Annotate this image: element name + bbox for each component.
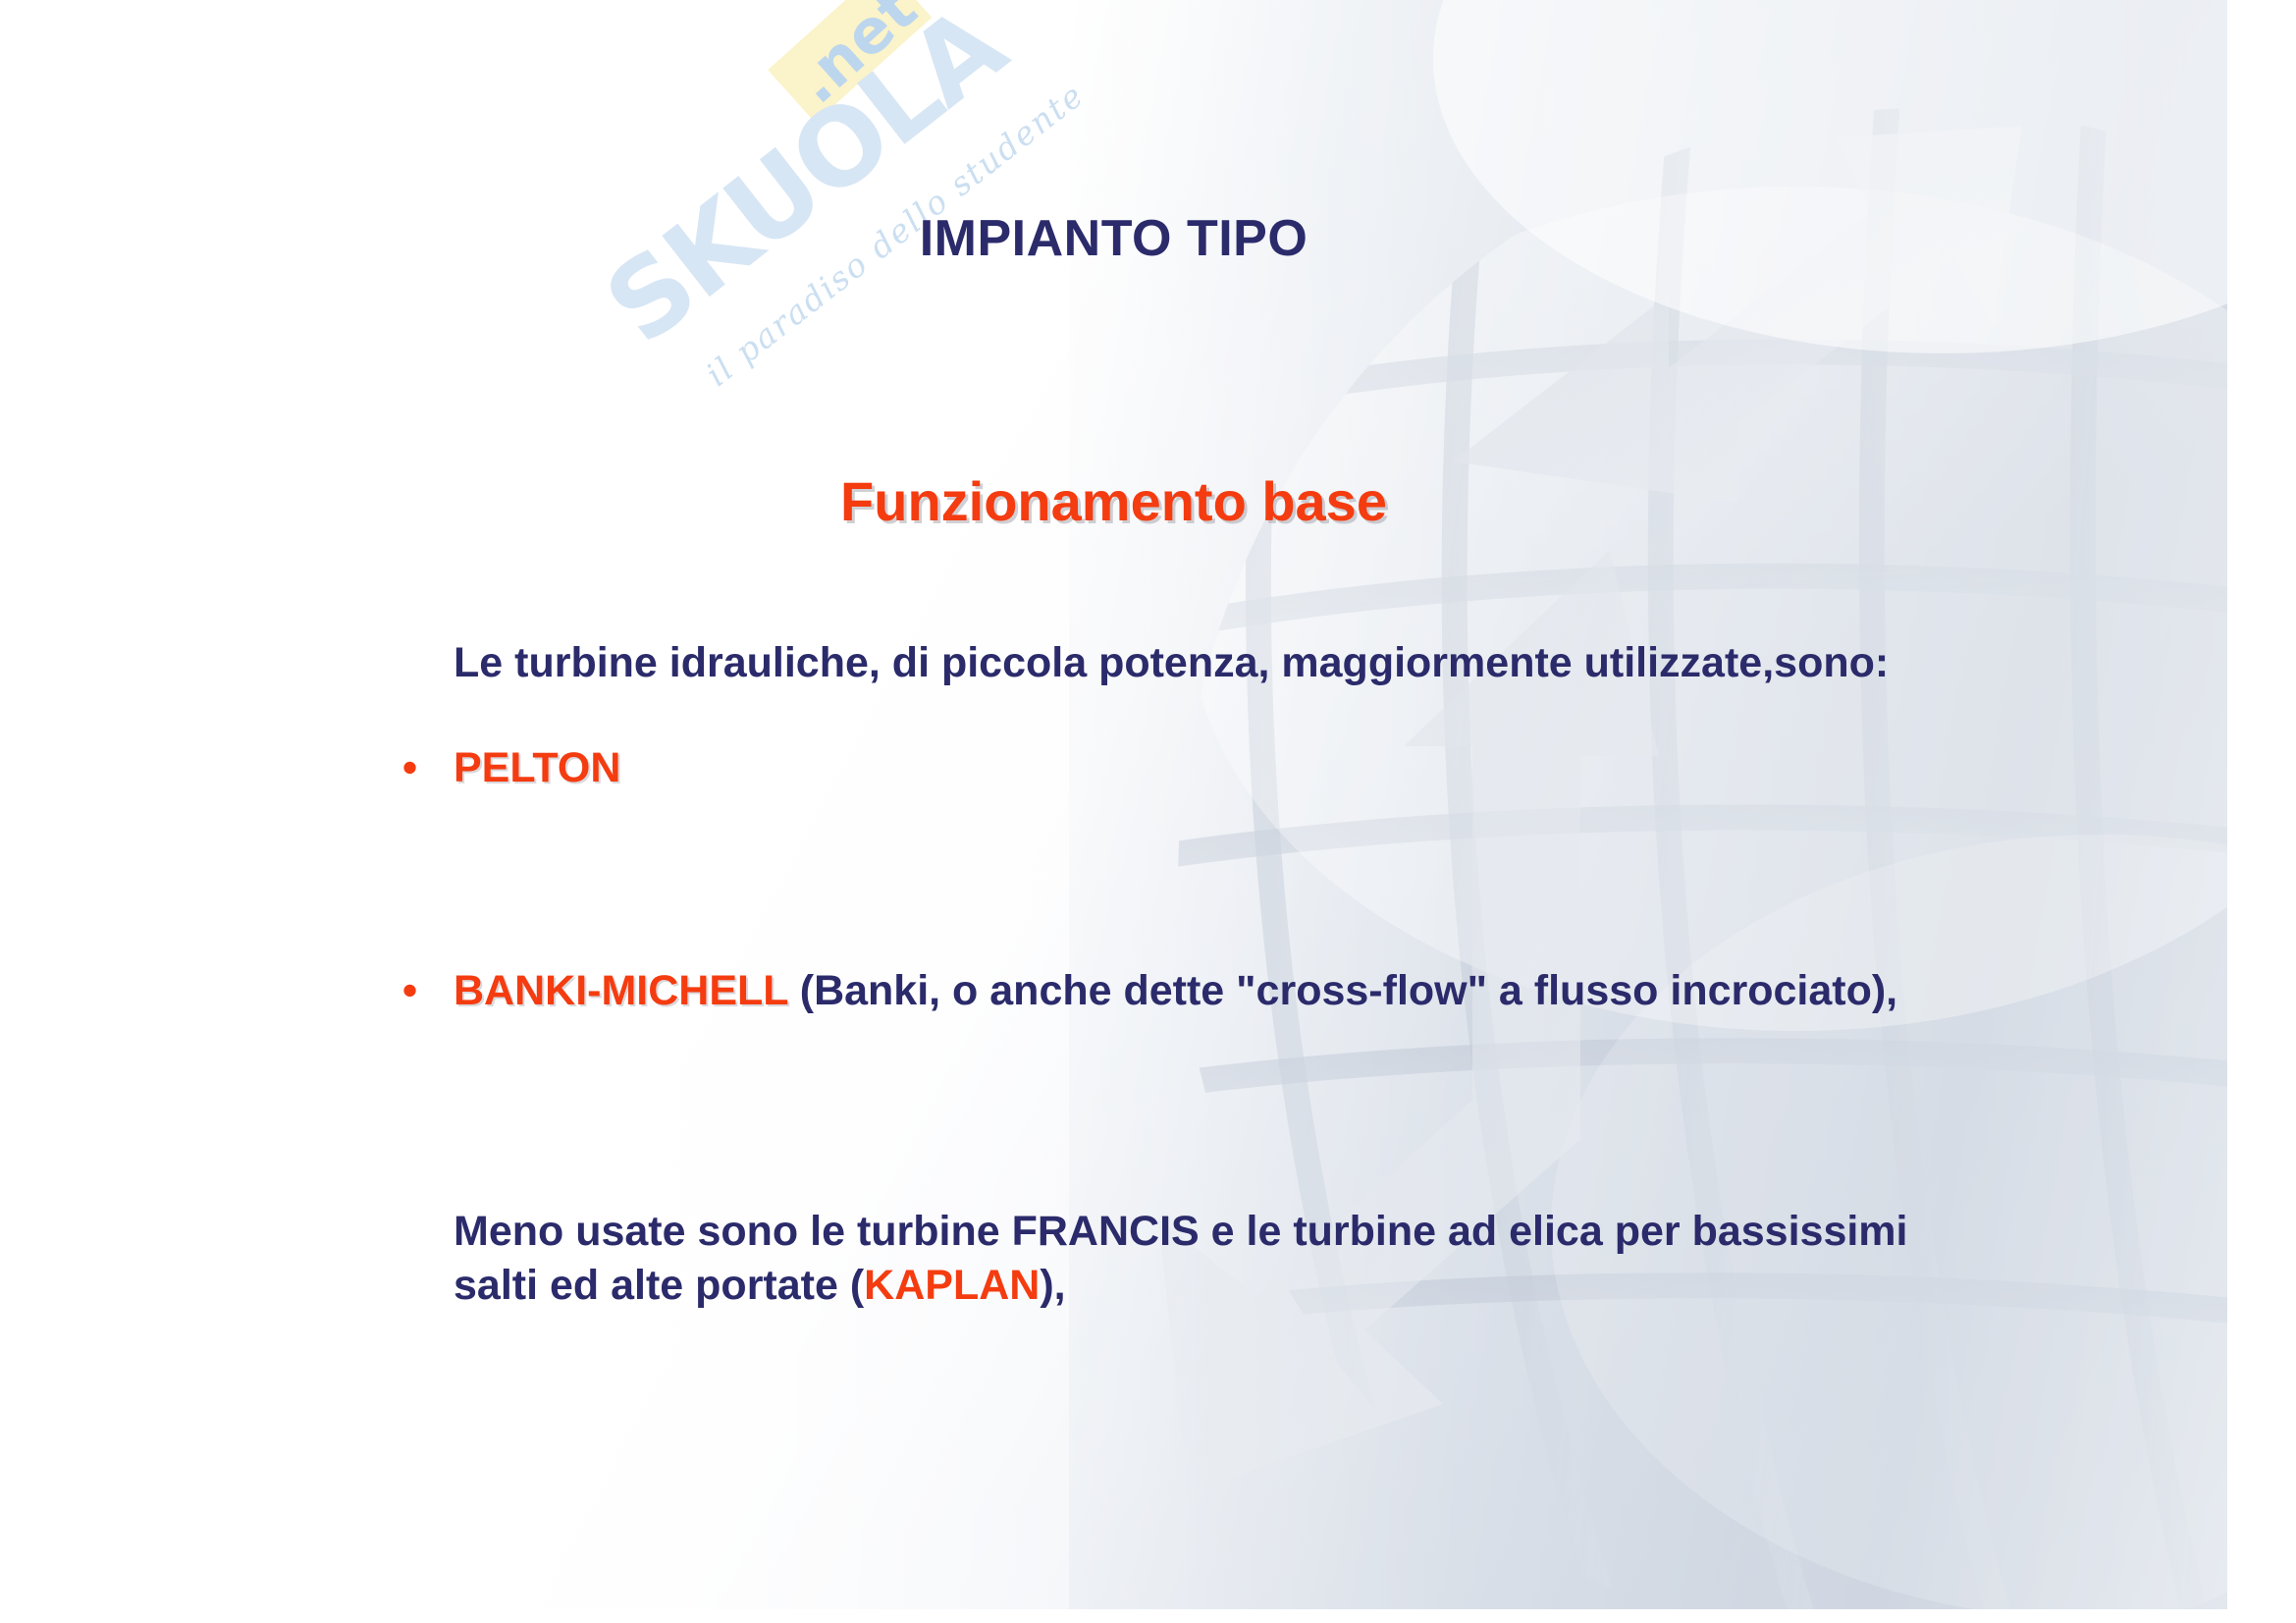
bullet-rest-banki-michell: (Banki, o anche dette "cross-flow" a flu…	[788, 967, 1897, 1014]
turbine-name-banki-michell: BANKI-MICHELL	[454, 967, 788, 1014]
presentation-slide: SKUOLA .net il paradiso dello studente I…	[0, 0, 2296, 1623]
slide-subtitle: Funzionamento base	[0, 469, 2227, 533]
closing-lead-text: Meno usate sono le turbine FRANCIS e le …	[454, 1208, 1907, 1309]
turbine-name-pelton: PELTON	[454, 744, 620, 791]
slide-right-margin	[2227, 0, 2296, 1623]
bullet-text-pelton: PELTON	[454, 741, 1993, 795]
closing-tail-text: ),	[1040, 1262, 1065, 1309]
slide-title: IMPIANTO TIPO	[0, 209, 2227, 268]
bullet-item-banki-michell: • BANKI-MICHELL (Banki, o anche dette "c…	[402, 964, 1993, 1018]
intro-paragraph: Le turbine idrauliche, di piccola potenz…	[402, 636, 1993, 690]
bullet-marker-icon: •	[402, 964, 454, 1018]
slide-body: Le turbine idrauliche, di piccola potenz…	[402, 636, 1993, 1313]
slide-bottom-margin	[0, 1609, 2296, 1623]
bullet-text-banki-michell: BANKI-MICHELL (Banki, o anche dette "cro…	[454, 964, 1993, 1018]
slide-content: IMPIANTO TIPO Funzionamento base Le turb…	[0, 0, 2296, 1623]
turbine-name-kaplan: KAPLAN	[864, 1262, 1040, 1309]
bullet-marker-icon: •	[402, 741, 454, 795]
bullet-item-pelton: • PELTON	[402, 741, 1993, 795]
closing-paragraph: Meno usate sono le turbine FRANCIS e le …	[402, 1205, 1993, 1313]
